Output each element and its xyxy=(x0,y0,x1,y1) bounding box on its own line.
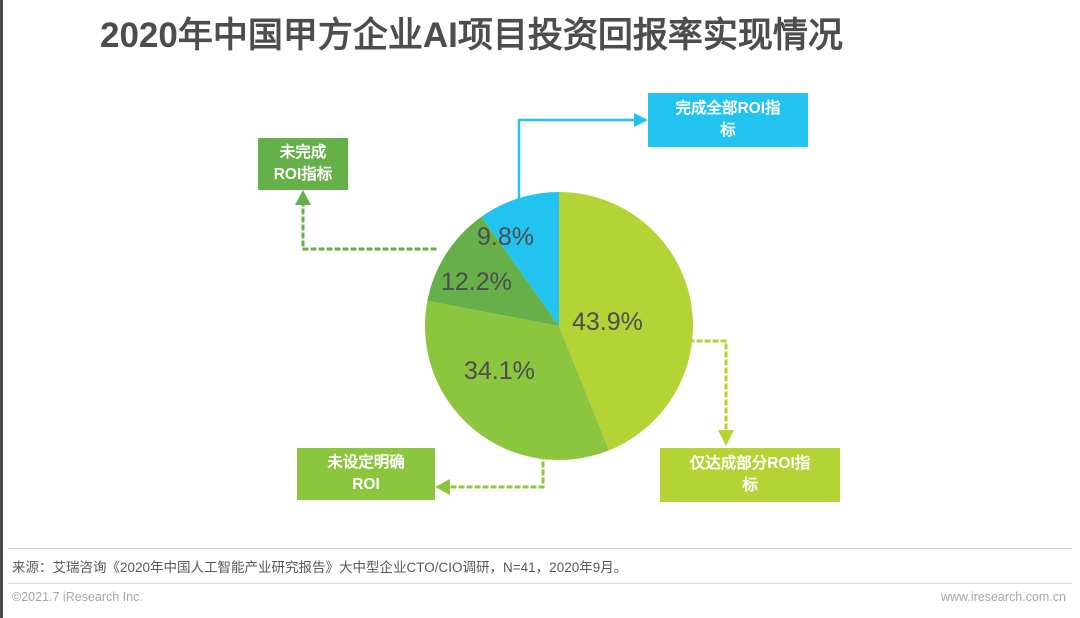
callout-partial-roi: 仅达成部分ROI指 标 xyxy=(660,448,840,502)
arrow-no-defined-roi xyxy=(435,479,450,495)
callout-incomplete-roi: 未完成 ROI指标 xyxy=(258,138,348,190)
arrow-incomplete-roi xyxy=(295,190,311,205)
callout-complete-roi-line2: 标 xyxy=(720,122,736,139)
slide-canvas: 2020年中国甲方企业AI项目投资回报率实现情况 43.9% 34.1% 12.… xyxy=(0,0,1080,618)
page-title: 2020年中国甲方企业AI项目投资回报率实现情况 xyxy=(100,14,1000,58)
callout-complete-roi-line1: 完成全部ROI指 xyxy=(675,100,780,117)
callout-partial-roi-line1: 仅达成部分ROI指 xyxy=(690,455,811,472)
copyright-text: ©2021.7 iResearch Inc. xyxy=(12,590,143,604)
callout-no-defined-roi: 未设定明确 ROI xyxy=(297,448,435,500)
arrow-complete-roi xyxy=(634,113,648,127)
pie-value-label-undefined: 34.1% xyxy=(464,357,535,386)
connector-incomplete-roi xyxy=(303,203,435,249)
pie-value-label-partial: 43.9% xyxy=(572,308,643,337)
arrow-partial-roi xyxy=(718,430,734,446)
left-edge-rule xyxy=(0,0,3,618)
callout-no-defined-roi-line1: 未设定明确 xyxy=(327,454,405,471)
source-divider xyxy=(8,548,1072,549)
source-note: 来源：艾瑞咨询《2020年中国人工智能产业研究报告》大中型企业CTO/CIO调研… xyxy=(12,556,627,576)
pie-value-label-incomplete: 12.2% xyxy=(441,268,512,297)
footer-divider xyxy=(8,583,1072,584)
callout-no-defined-roi-line2: ROI xyxy=(352,476,380,493)
website-url[interactable]: www.iresearch.com.cn xyxy=(941,590,1066,604)
callout-complete-roi: 完成全部ROI指 标 xyxy=(648,93,808,147)
callout-incomplete-roi-line1: 未完成 xyxy=(280,144,327,161)
pie-chart xyxy=(425,192,693,460)
callout-partial-roi-line2: 标 xyxy=(742,477,758,494)
connector-partial-roi xyxy=(690,341,726,432)
callout-incomplete-roi-line2: ROI指标 xyxy=(274,166,333,183)
pie-value-label-complete: 9.8% xyxy=(477,223,534,252)
